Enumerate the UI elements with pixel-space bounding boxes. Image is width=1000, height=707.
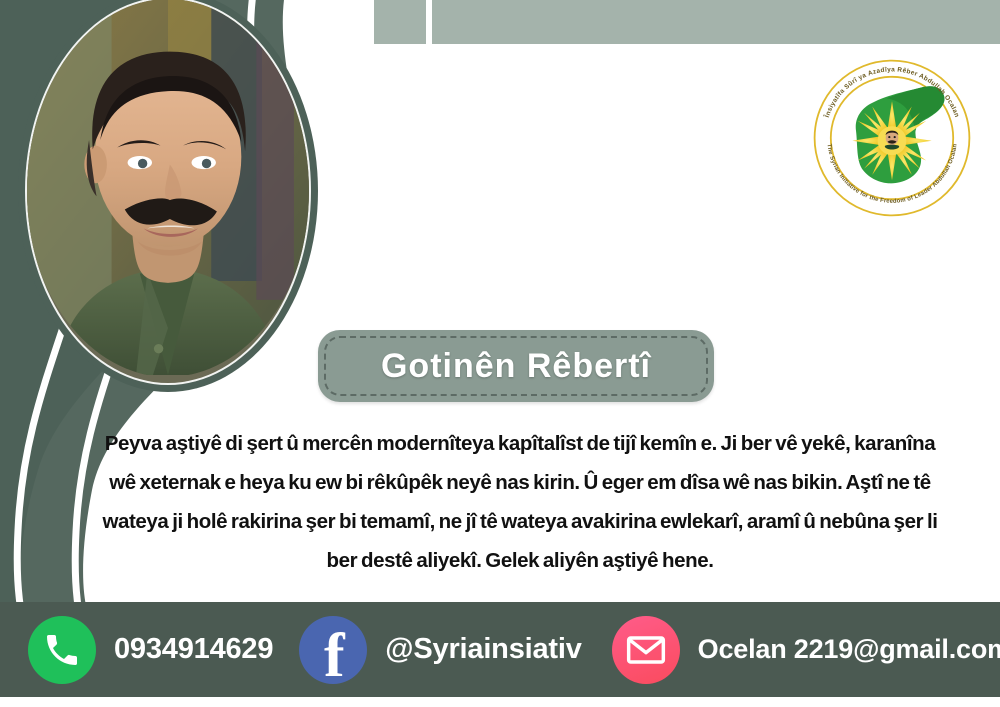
phone-number-label: 0934914629: [114, 633, 273, 666]
portrait-inner-ring: [25, 0, 311, 385]
facebook-glyph: f: [324, 625, 345, 687]
top-bar-right-segment: [432, 0, 1000, 44]
poster-canvas: Însiyatîfa Sûrî ya Azadîya Rêber Abdulla…: [0, 0, 1000, 707]
portrait-frame: [18, 0, 318, 392]
facebook-handle-label: @Syriainsiativ: [385, 633, 581, 666]
page-title: Gotinên Rêbertî: [381, 347, 651, 386]
phone-icon[interactable]: [28, 616, 96, 684]
contact-phone[interactable]: 0934914629: [28, 616, 273, 684]
email-icon[interactable]: [612, 616, 680, 684]
quote-body-text: Peyva aştiyê di şert û mercên modernîtey…: [92, 424, 948, 580]
portrait-photo: [27, 0, 309, 375]
contact-facebook[interactable]: f @Syriainsiativ: [299, 616, 581, 684]
contact-footer: 0934914629 f @Syriainsiativ Ocelan 2219@…: [0, 602, 1000, 697]
facebook-icon[interactable]: f: [299, 616, 367, 684]
syrian-initiative-logo: Însiyatîfa Sûrî ya Azadîya Rêber Abdulla…: [802, 48, 982, 228]
contact-email[interactable]: Ocelan 2219@gmail.com: [612, 616, 1000, 684]
quote-title-banner: Gotinên Rêbertî: [318, 330, 714, 402]
envelope-glyph: [626, 634, 666, 666]
email-address-label: Ocelan 2219@gmail.com: [698, 634, 1000, 665]
phone-glyph: [42, 630, 82, 670]
